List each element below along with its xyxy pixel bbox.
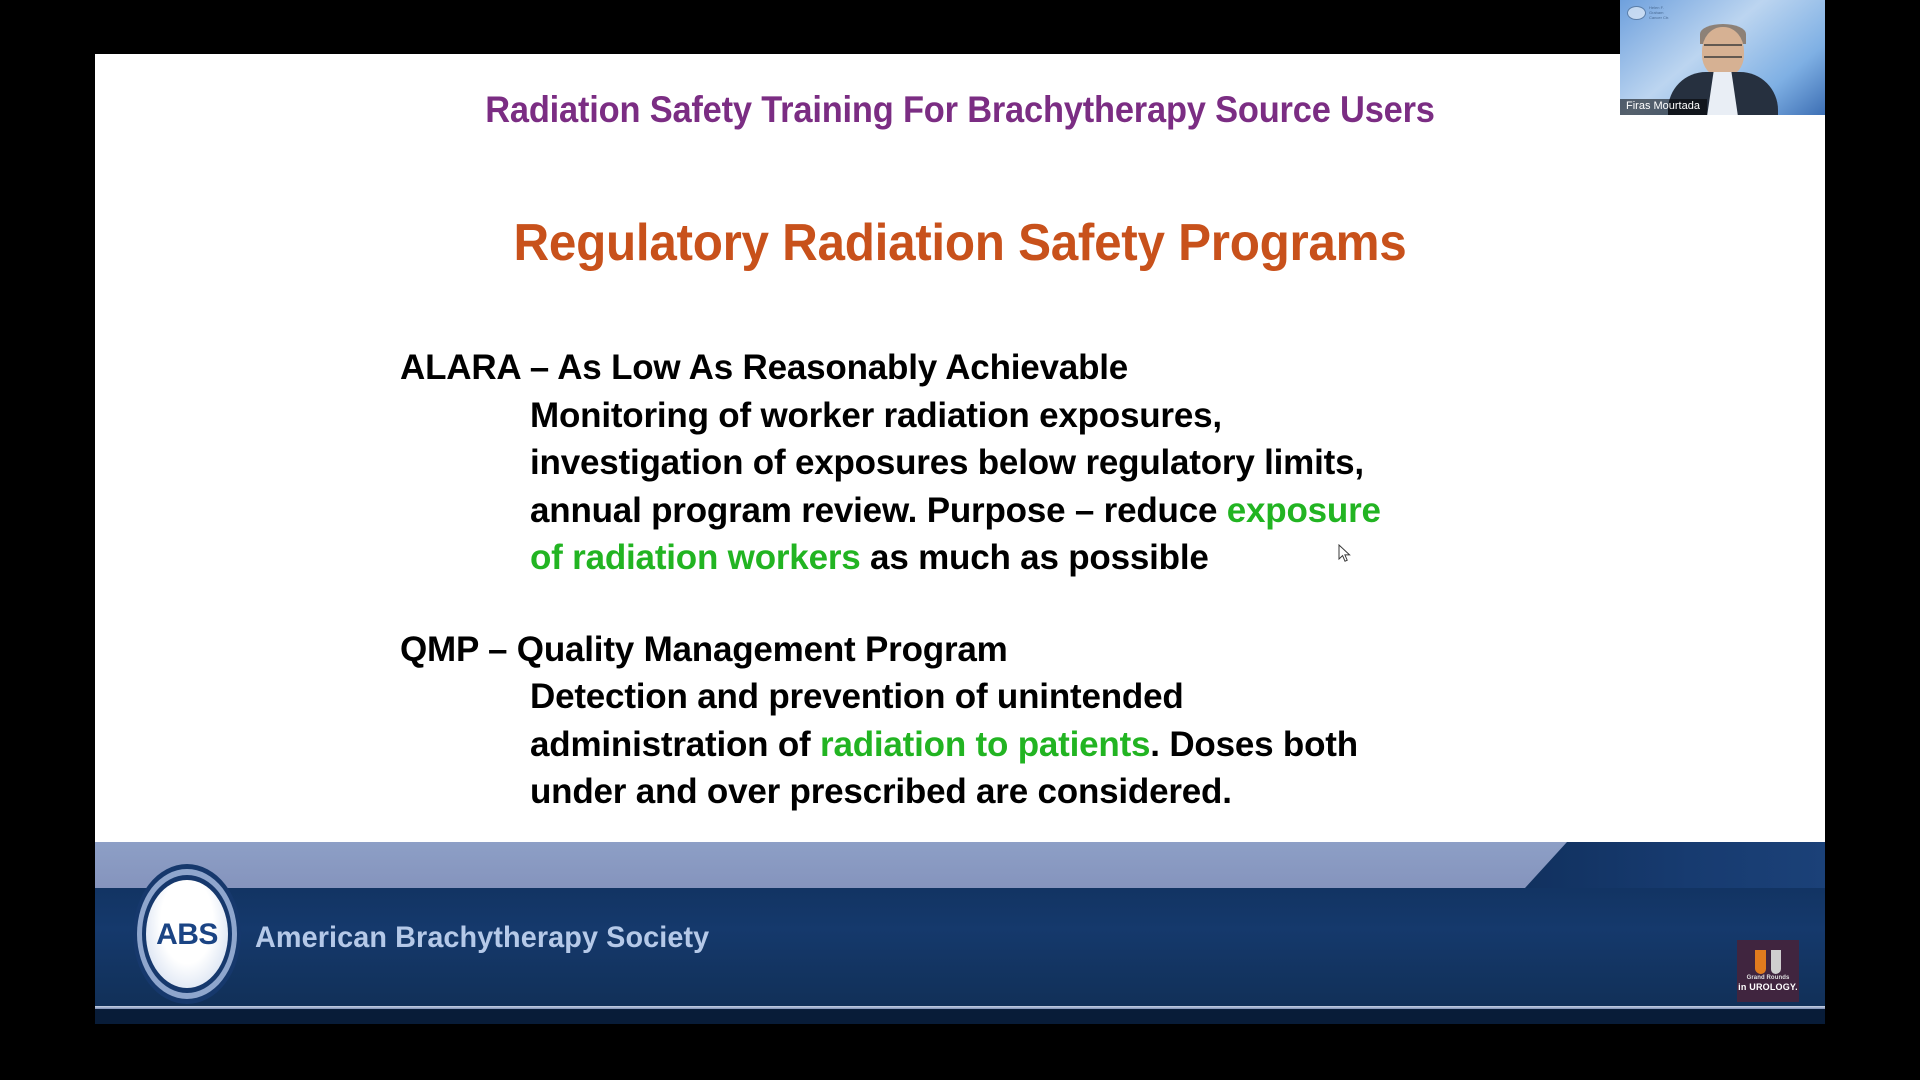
paragraph-line: Detection and prevention of unintended [530, 673, 1680, 721]
abs-logo: ABS [133, 864, 241, 1004]
footer-wedge-shape [1525, 842, 1825, 888]
slide-body: ALARA – As Low As Reasonably Achievable … [400, 344, 1680, 816]
participant-name-label: Firas Mourtada [1620, 99, 1707, 115]
paragraph-line: under and over prescribed are considered… [530, 768, 1680, 816]
presentation-slide: Radiation Safety Training For Brachyther… [95, 54, 1825, 1024]
paragraph-line: investigation of exposures below regulat… [530, 439, 1680, 487]
paragraph-line: Monitoring of worker radiation exposures… [530, 392, 1680, 440]
body-paragraph-qmp: QMP – Quality Management Program Detecti… [400, 626, 1680, 816]
text-run: as much as possible [861, 538, 1209, 577]
text-run: . Doses both [1150, 725, 1358, 764]
footer-base-strip [95, 1009, 1825, 1024]
text-run-highlight: exposure [1227, 491, 1381, 530]
u-stroke-left [1755, 950, 1766, 974]
watermark-line-1: Grand Rounds [1747, 975, 1790, 981]
background-institution-logo: Helen F. Graham Cancer Ctr. [1627, 5, 1669, 20]
text-run: under and over prescribed are considered… [530, 772, 1232, 811]
paragraph-lead: QMP – Quality Management Program [400, 626, 1680, 674]
slide-title: Radiation Safety Training For Brachyther… [156, 89, 1765, 131]
paragraph-line: administration of radiation to patients.… [530, 721, 1680, 769]
paragraph-lead: ALARA – As Low As Reasonably Achievable [400, 344, 1680, 392]
organization-name: American Brachytherapy Society [255, 921, 709, 955]
body-paragraph-alara: ALARA – As Low As Reasonably Achievable … [400, 344, 1680, 582]
text-run: Detection and prevention of unintended [530, 677, 1184, 716]
text-run: administration of [530, 725, 820, 764]
institution-mark-icon [1627, 6, 1646, 20]
text-run: Monitoring of worker radiation exposures… [530, 396, 1222, 435]
text-run-highlight: radiation to patients [820, 725, 1150, 764]
participant-video-tile[interactable]: Helen F. Graham Cancer Ctr. Firas Mourta… [1620, 0, 1825, 115]
slide-heading: Regulatory Radiation Safety Programs [138, 213, 1782, 273]
urology-u-icon [1755, 950, 1781, 974]
paragraph-line: annual program review. Purpose – reduce … [530, 487, 1680, 535]
institution-logo-text: Helen F. Graham Cancer Ctr. [1649, 5, 1669, 20]
text-run: investigation of exposures below regulat… [530, 443, 1364, 482]
watermark-line-2: in UROLOGY. [1738, 982, 1798, 992]
text-run: annual program review. Purpose – reduce [530, 491, 1227, 530]
screen: Radiation Safety Training For Brachyther… [0, 0, 1920, 1080]
text-run-highlight: of radiation workers [530, 538, 861, 577]
slide-footer: ABS American Brachytherapy Society [95, 842, 1825, 1024]
logo-initials: ABS [133, 918, 241, 952]
glasses-icon [1704, 44, 1742, 58]
u-stroke-right [1771, 950, 1781, 974]
paragraph-line: of radiation workers as much as possible [530, 534, 1680, 582]
grand-rounds-urology-watermark: Grand Rounds in UROLOGY. [1737, 940, 1799, 1002]
